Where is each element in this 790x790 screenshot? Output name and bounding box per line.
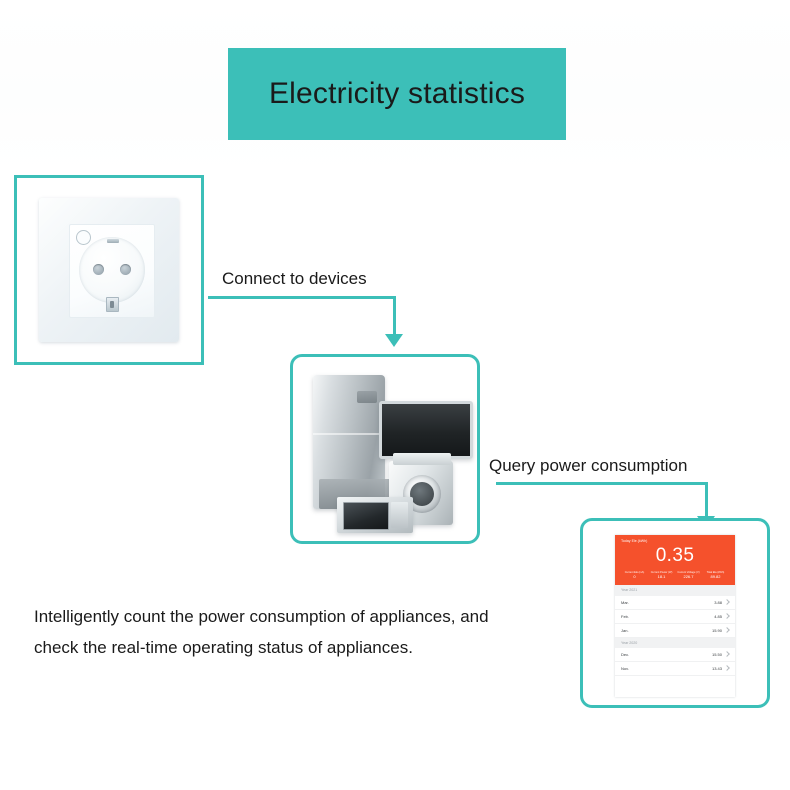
- app-row-label: Jan.: [621, 628, 629, 633]
- appliance-image-card: [290, 354, 480, 544]
- app-row-label: Dec.: [621, 652, 629, 657]
- socket-pin-hole-right: [120, 264, 131, 275]
- washing-machine-panel: [393, 453, 451, 465]
- ground-clip-top-icon: [107, 239, 119, 243]
- app-row-value: 15.90: [712, 628, 722, 633]
- list-item[interactable]: Nov. 13.43: [615, 662, 735, 676]
- app-stat-current-power: Current Power (W) 18.1: [648, 571, 675, 580]
- title-banner: Electricity statistics: [228, 48, 566, 140]
- caption-line-2: check the real-time operating status of …: [34, 632, 554, 663]
- chevron-right-icon: [724, 627, 730, 633]
- arrow-vertical-segment: [393, 296, 396, 336]
- app-row-right: 15.90: [712, 628, 729, 633]
- list-item[interactable]: Jan. 15.90: [615, 624, 735, 638]
- poster-root: Electricity statistics Connect t: [0, 0, 790, 790]
- connector-label-query: Query power consumption: [489, 457, 687, 474]
- microwave-window: [343, 502, 389, 530]
- app-screenshot-card: Today Ele.(kWh) 0.35 Current Ele.(mA) 0 …: [580, 518, 770, 708]
- app-row-right: 3.88: [714, 600, 729, 605]
- app-stat-label: Current Ele.(mA): [621, 571, 648, 574]
- socket-receptacle: [79, 237, 145, 303]
- app-stat-label: Current Power (W): [648, 571, 675, 574]
- app-stat-value: 0: [621, 574, 648, 580]
- list-item[interactable]: Feb. 4.85: [615, 610, 735, 624]
- power-button-icon: [76, 230, 91, 245]
- app-stat-current-ele: Current Ele.(mA) 0: [621, 571, 648, 580]
- app-group-header: Year 2020: [615, 638, 735, 648]
- chevron-right-icon: [724, 613, 730, 619]
- socket-pin-hole-left: [93, 264, 104, 275]
- arrow-vertical-segment: [705, 482, 708, 518]
- list-item[interactable]: Dec. 15.50: [615, 648, 735, 662]
- app-row-value: 4.85: [714, 614, 722, 619]
- app-row-right: 15.50: [712, 652, 729, 657]
- app-today-value: 0.35: [621, 543, 729, 569]
- arrow-connect-to-devices: [208, 296, 398, 350]
- app-group-header: Year 2021: [615, 585, 735, 595]
- app-screen: Today Ele.(kWh) 0.35 Current Ele.(mA) 0 …: [615, 535, 735, 697]
- page-title: Electricity statistics: [269, 79, 525, 109]
- app-stat-total-ele: Total Ele.(kWh) 89.82: [702, 571, 729, 580]
- app-row-value: 13.43: [712, 666, 722, 671]
- description-caption: Intelligently count the power consumptio…: [34, 601, 554, 664]
- list-item[interactable]: Mar. 3.88: [615, 596, 735, 610]
- arrow-head-icon: [385, 334, 403, 347]
- socket-lower-slot: [106, 297, 119, 312]
- app-stat-label: Current Voltage (V): [675, 571, 702, 574]
- socket-faceplate: [39, 198, 179, 342]
- app-row-label: Feb.: [621, 614, 629, 619]
- microwave-keypad: [391, 502, 408, 528]
- app-row-right: 4.85: [714, 614, 729, 619]
- app-stat-value: 226.7: [675, 574, 702, 580]
- television-icon: [379, 401, 473, 459]
- app-stats-row: Current Ele.(mA) 0 Current Power (W) 18.…: [621, 571, 729, 580]
- app-today-usage-hero: Today Ele.(kWh) 0.35 Current Ele.(mA) 0 …: [615, 535, 735, 585]
- socket-photo: [17, 178, 201, 362]
- app-today-label: Today Ele.(kWh): [621, 539, 729, 543]
- socket-image-card: [14, 175, 204, 365]
- chevron-right-icon: [724, 665, 730, 671]
- app-row-label: Nov.: [621, 666, 629, 671]
- app-row-value: 3.88: [714, 600, 722, 605]
- app-row-right: 13.43: [712, 666, 729, 671]
- app-stat-label: Total Ele.(kWh): [702, 571, 729, 574]
- arrow-horizontal-segment: [496, 482, 708, 485]
- appliance-photo: [293, 357, 477, 541]
- socket-inner-plate: [69, 224, 155, 318]
- app-stat-value: 18.1: [648, 574, 675, 580]
- chevron-right-icon: [724, 599, 730, 605]
- caption-line-1: Intelligently count the power consumptio…: [34, 601, 554, 632]
- app-stat-current-voltage: Current Voltage (V) 226.7: [675, 571, 702, 580]
- connector-label-connect: Connect to devices: [222, 270, 367, 287]
- arrow-horizontal-segment: [208, 296, 396, 299]
- app-row-label: Mar.: [621, 600, 629, 605]
- app-row-value: 15.50: [712, 652, 722, 657]
- chevron-right-icon: [724, 651, 730, 657]
- app-stat-value: 89.82: [702, 574, 729, 580]
